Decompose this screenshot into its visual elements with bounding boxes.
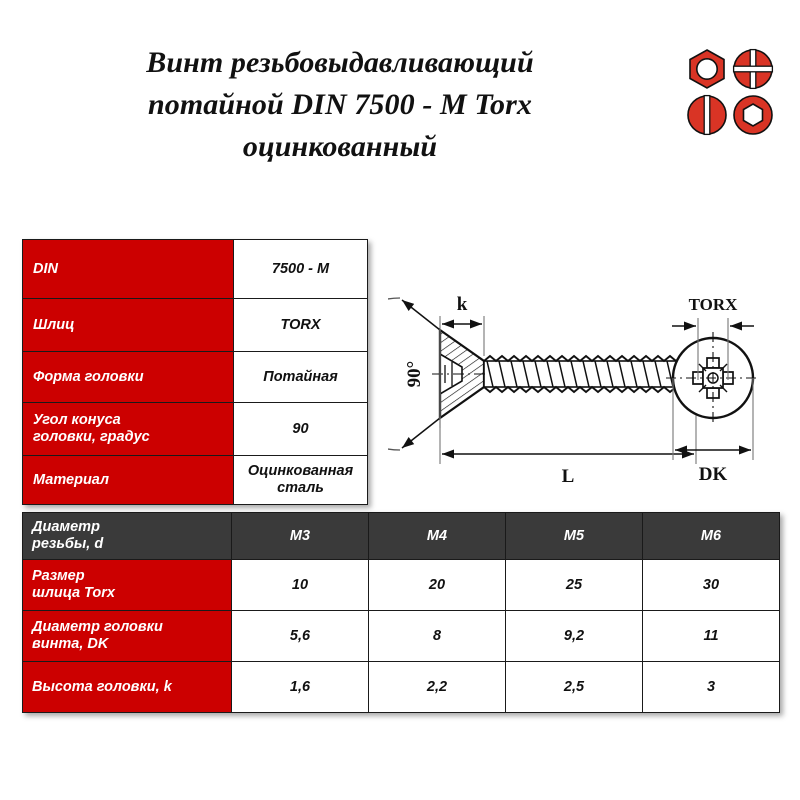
table-row: Высота головки, k 1,6 2,2 2,5 3 (23, 662, 780, 713)
head-diameter-label: DK (699, 464, 728, 485)
head-height-label: k (457, 294, 468, 315)
spec-label-material: Материал (23, 456, 234, 505)
cone-angle-label: 90° (404, 361, 425, 388)
screw-end-view: TORX DK (666, 295, 760, 485)
dimension-table: Диаметр резьбы, d M3 M4 M5 M6 Размер шли… (22, 512, 780, 713)
dim-column-m6: M6 (643, 513, 780, 560)
dim-header-label-line-2: резьбы, d (32, 536, 103, 552)
table-header-row: Диаметр резьбы, d M3 M4 M5 M6 (23, 513, 780, 560)
spec-value-material-line-2: сталь (277, 480, 324, 496)
dim-value-head-diameter-m5: 9,2 (506, 611, 643, 662)
spec-label-drive: Шлиц (23, 299, 234, 352)
dim-value-head-height-m4: 2,2 (369, 662, 506, 713)
screw-technical-drawing: 90° (388, 268, 788, 493)
dim-header-label-line-1: Диаметр (32, 519, 100, 535)
dim-label-head-diameter: Диаметр головки винта, DK (23, 611, 232, 662)
spec-value-material-line-1: Оцинкованная (248, 463, 353, 479)
page-title: Винт резьбовыдавливающий потайной DIN 75… (55, 42, 625, 168)
table-row: Шлиц TORX (23, 299, 368, 352)
length-label: L (562, 466, 575, 487)
dim-label-torx-size: Размер шлица Torx (23, 560, 232, 611)
spec-label-din: DIN (23, 240, 234, 299)
dim-value-head-diameter-m3: 5,6 (232, 611, 369, 662)
dim-value-head-height-m3: 1,6 (232, 662, 369, 713)
spec-label-cone-angle: Угол конуса головки, градус (23, 403, 234, 456)
dim-value-torx-size-m6: 30 (643, 560, 780, 611)
spec-label-cone-angle-line-1: Угол конуса (33, 412, 121, 428)
page-title-line-2: потайной DIN 7500 - M Torx (55, 84, 625, 126)
cross-slot-screw-icon (734, 50, 773, 89)
dim-column-m5: M5 (506, 513, 643, 560)
table-row: Диаметр головки винта, DK 5,6 8 9,2 11 (23, 611, 780, 662)
dim-value-torx-size-m4: 20 (369, 560, 506, 611)
fastener-logo (686, 48, 774, 136)
dim-value-head-height-m6: 3 (643, 662, 780, 713)
page-header: Винт резьбовыдавливающий потайной DIN 75… (0, 0, 800, 190)
table-row: Материал Оцинкованная сталь (23, 456, 368, 505)
dim-value-head-diameter-m4: 8 (369, 611, 506, 662)
table-row: DIN 7500 - M (23, 240, 368, 299)
spec-value-cone-angle: 90 (234, 403, 368, 456)
dim-value-torx-size-m3: 10 (232, 560, 369, 611)
dim-value-head-height-m5: 2,5 (506, 662, 643, 713)
dim-value-head-diameter-m6: 11 (643, 611, 780, 662)
dim-label-torx-size-line-1: Размер (32, 568, 85, 584)
spec-value-head-form: Потайная (234, 352, 368, 403)
spec-label-head-form: Форма головки (23, 352, 234, 403)
torx-label: TORX (689, 295, 739, 314)
dim-column-m4: M4 (369, 513, 506, 560)
dim-label-torx-size-line-2: шлица Torx (32, 585, 115, 601)
table-row: Форма головки Потайная (23, 352, 368, 403)
spec-value-din: 7500 - M (234, 240, 368, 299)
screw-drawing-svg: 90° (388, 268, 788, 493)
table-row: Угол конуса головки, градус 90 (23, 403, 368, 456)
page-title-line-3: оцинкованный (55, 126, 625, 168)
slot-screw-icon (688, 96, 726, 135)
spec-value-drive: TORX (234, 299, 368, 352)
table-row: Размер шлица Torx 10 20 25 30 (23, 560, 780, 611)
hex-nut-icon (690, 50, 724, 88)
page-title-line-1: Винт резьбовыдавливающий (55, 42, 625, 84)
dim-label-head-height: Высота головки, k (23, 662, 232, 713)
dim-value-torx-size-m5: 25 (506, 560, 643, 611)
hex-socket-icon (734, 96, 772, 134)
dim-column-m3: M3 (232, 513, 369, 560)
spec-label-cone-angle-line-2: головки, градус (33, 429, 150, 445)
spec-value-material: Оцинкованная сталь (234, 456, 368, 505)
dim-header-label: Диаметр резьбы, d (23, 513, 232, 560)
dim-label-head-diameter-line-2: винта, DK (32, 636, 108, 652)
fastener-logo-icon (686, 48, 774, 136)
length-dimension: L (440, 388, 696, 487)
dim-label-head-diameter-line-1: Диаметр головки (32, 619, 163, 635)
spec-table: DIN 7500 - M Шлиц TORX Форма головки Пот… (22, 239, 368, 505)
